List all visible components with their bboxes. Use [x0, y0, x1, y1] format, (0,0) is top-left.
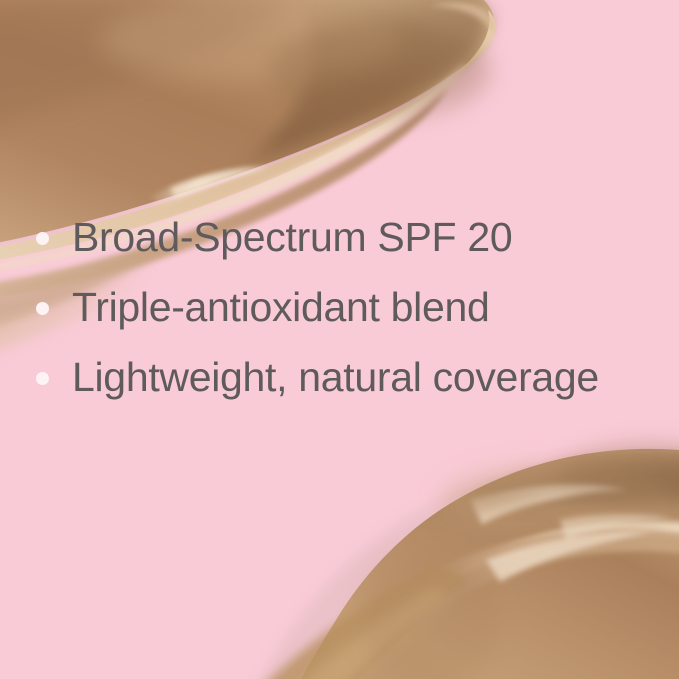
feature-label: Broad-Spectrum SPF 20	[36, 216, 512, 259]
bullet-dot-icon	[36, 372, 49, 385]
list-item: Broad-Spectrum SPF 20	[0, 203, 679, 273]
feature-bullet-list: Broad-Spectrum SPF 20 Triple-antioxidant…	[0, 203, 679, 413]
list-item: Triple-antioxidant blend	[0, 273, 679, 343]
feature-label: Triple-antioxidant blend	[36, 286, 489, 329]
bullet-dot-icon	[36, 302, 49, 315]
bullet-dot-icon	[36, 232, 49, 245]
bottom-swoosh-group	[250, 444, 679, 679]
product-feature-graphic: Broad-Spectrum SPF 20 Triple-antioxidant…	[0, 0, 679, 679]
list-item: Lightweight, natural coverage	[0, 343, 679, 413]
feature-label: Lightweight, natural coverage	[36, 356, 599, 399]
